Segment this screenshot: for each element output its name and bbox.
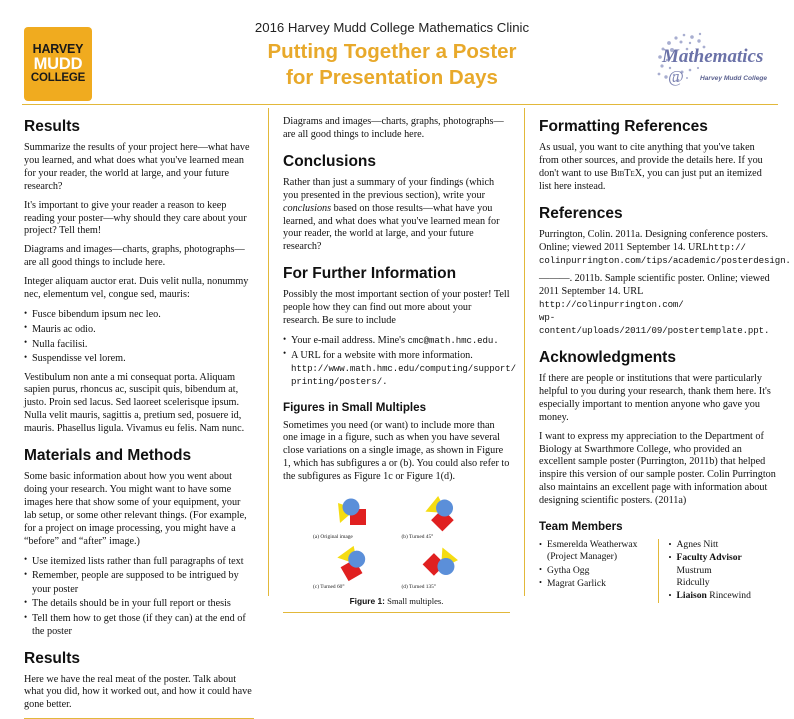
results-paragraph-2: It's important to give your reader a rea… [24,200,254,239]
subfigure-a-caption: (a) Original image [311,534,394,541]
section-heading-for-further-information: For Further Information [283,265,510,282]
figure-caption-text: Small multiples. [385,596,444,606]
team-member-role: Faculty Advisor [677,552,742,563]
list-item: The details should be in your full repor… [24,597,254,610]
website-url-line-1[interactable]: http://www.math.hmc.edu/computing/suppor… [291,363,516,374]
results-paragraph-4: Integer aliquam auctor erat. Duis velit … [24,276,254,302]
list-item: Esmerelda Weatherwax(Project Manager) [539,539,652,564]
section-heading-figures-in-small-multiples: Figures in Small Multiples [283,401,510,414]
mathematics-at-hmc-logo: Mathematics @ Harvey Mudd College [654,30,780,92]
team-member-name: Mustrum [677,565,712,576]
subfigure-c-artwork [324,543,380,583]
math-wordmark: Mathematics [661,46,763,67]
team-right-items: Agnes Nitt Faculty Advisor MustrumRidcul… [669,539,771,602]
figures-paragraph-1: Sometimes you need (or want) to include … [283,420,510,485]
formatting-paragraph-1: As usual, you want to cite anything that… [539,142,776,194]
list-item: Nulla facilisi. [24,338,254,351]
team-column-right: Agnes Nitt Faculty Advisor MustrumRidcul… [658,539,777,603]
column-right: Formatting References As usual, you want… [524,108,794,596]
website-url-line-2[interactable]: printing/posters/. [291,376,387,387]
at-symbol-icon: @ [668,67,684,86]
subfigure-b: (b) Turned 45° [400,493,483,541]
math-logo-subtitle: Harvey Mudd College [700,75,767,82]
page-title: Putting Together a Poster for Presentati… [140,39,644,91]
subfigure-d-caption: (d) Turned 135° [400,584,483,591]
list-item: Fusce bibendum ipsum nec leo. [24,308,254,321]
header-text-block: 2016 Harvey Mudd College Mathematics Cli… [140,20,644,91]
materials-bullet-list: Use itemized lists rather than full para… [24,555,254,639]
section-heading-formatting-references: Formatting References [539,118,776,135]
materials-paragraph-1: Some basic information about how you wen… [24,471,254,548]
subfigure-d: (d) Turned 135° [400,543,483,591]
list-item-email: Your e-mail address. Mine's cmc@math.hmc… [283,334,510,347]
section-heading-conclusions: Conclusions [283,153,510,170]
reference-2-url-line-2[interactable]: wp-content/uploads/2011/09/postertemplat… [539,312,769,336]
further-bullet-list: Your e-mail address. Mine's cmc@math.hmc… [283,334,510,389]
email-label: Your e-mail address. Mine's [291,335,408,346]
figure-caption-label: Figure 1: [350,596,385,606]
results-bullet-list: Fusce bibendum ipsum nec leo. Mauris ac … [24,308,254,366]
harvey-mudd-college-logo: HARVEY MUDD COLLEGE [24,27,92,101]
subfigure-a-artwork [324,493,380,533]
math-logo-svg: Mathematics @ Harvey Mudd College [654,30,780,92]
url-label: A URL for a website with more informatio… [291,350,473,361]
further-paragraph-1: Possibly the most important section of y… [283,289,510,328]
list-item: Faculty Advisor MustrumRidcully [669,552,771,589]
results2-paragraph-1: Here we have the real meat of the poster… [24,674,254,713]
header-divider-rule [22,104,778,105]
section-heading-results-2: Results [24,650,254,667]
reference-entry-1: Purrington, Colin. 2011a. Designing conf… [539,229,776,268]
list-item: Agnes Nitt [669,539,771,551]
acknowledgments-paragraph-2: I want to express my appreciation to the… [539,431,776,508]
reference-entry-2: ———. 2011b. Sample scientific poster. On… [539,273,776,338]
team-column-left: Esmerelda Weatherwax(Project Manager) Gy… [539,539,658,603]
list-item-url: A URL for a website with more informatio… [283,349,510,389]
reference-2-url-line-1[interactable]: http://colinpurrington.com/ [539,299,684,310]
shapes-icon [413,493,469,533]
list-item: Liaison Rincewind [669,590,771,602]
clinic-subtitle: 2016 Harvey Mudd College Mathematics Cli… [140,20,644,35]
reference-1-url-line-1[interactable]: http:// [708,242,746,253]
poster-columns: Results Summarize the results of your pr… [0,108,794,596]
reference-1-url-line-2[interactable]: colinpurrington.com/tips/academic/poster… [539,255,791,266]
section-heading-results: Results [24,118,254,135]
shapes-icon [413,543,469,583]
conclusions-text-a: Rather than just a summary of your findi… [283,177,494,201]
poster-header: HARVEY MUDD COLLEGE 2016 Harvey Mudd Col… [0,0,794,104]
figure-1: (a) Original image [283,493,510,606]
bibtex-label: BibTeX [610,168,642,179]
column-middle: Diagrams and images—charts, graphs, phot… [268,108,524,596]
subfigure-b-caption: (b) Turned 45° [400,534,483,541]
logo-line-college: COLLEGE [31,73,85,85]
subfigure-c: (c) Turned 60° [311,543,394,591]
conclusions-emphasis: conclusions [283,203,331,214]
results-paragraph-1: Summarize the results of your project he… [24,142,254,194]
list-item: Remember, people are supposed to be intr… [24,569,254,596]
list-item: Magrat Garlick [539,578,652,590]
title-line-1: Putting Together a Poster [267,40,516,63]
poster-page: HARVEY MUDD COLLEGE 2016 Harvey Mudd Col… [0,0,794,596]
team-left-items: Esmerelda Weatherwax(Project Manager) Gy… [539,539,652,590]
reference-2-dash: ———. [539,273,572,284]
team-members-list: Esmerelda Weatherwax(Project Manager) Gy… [539,539,776,603]
section-heading-references: References [539,205,776,222]
logo-line-mudd: MUDD [34,56,83,73]
shapes-icon [324,493,380,533]
list-item: Use itemized lists rather than full para… [24,555,254,568]
email-address[interactable]: cmc@math.hmc.edu. [408,335,499,346]
list-item: Mauris ac odio. [24,323,254,336]
results-paragraph-3: Diagrams and images—charts, graphs, phot… [24,244,254,270]
figure-caption: Figure 1: Small multiples. [283,596,510,606]
list-item: Tell them how to get those (if they can)… [24,612,254,639]
section-heading-acknowledgments: Acknowledgments [539,349,776,366]
title-line-2: for Presentation Days [286,66,498,89]
section-heading-team-members: Team Members [539,520,776,533]
middle-intro-paragraph: Diagrams and images—charts, graphs, phot… [283,116,510,142]
reference-2-text: 2011b. Sample scientific poster. Online;… [539,273,770,297]
results-paragraph-5: Vestibulum non ante a mi consequat porta… [24,372,254,437]
team-member-name: Esmerelda Weatherwax [547,539,637,550]
shapes-icon [324,543,380,583]
subfigure-grid: (a) Original image [283,493,510,591]
column-left: Results Summarize the results of your pr… [0,108,268,596]
conclusions-paragraph-1: Rather than just a summary of your findi… [283,177,510,254]
list-item: Suspendisse vel lorem. [24,352,254,365]
team-member-name-cont: Ridcully [677,577,771,589]
list-item: Gytha Ogg [539,565,652,577]
acknowledgments-paragraph-1: If there are people or institutions that… [539,373,776,425]
subfigure-c-caption: (c) Turned 60° [311,584,394,591]
middle-column-bottom-rule [283,612,510,613]
subfigure-a: (a) Original image [311,493,394,541]
section-heading-materials-and-methods: Materials and Methods [24,447,254,464]
subfigure-b-artwork [413,493,469,533]
team-member-role-note: (Project Manager) [547,551,652,563]
subfigure-d-artwork [413,543,469,583]
